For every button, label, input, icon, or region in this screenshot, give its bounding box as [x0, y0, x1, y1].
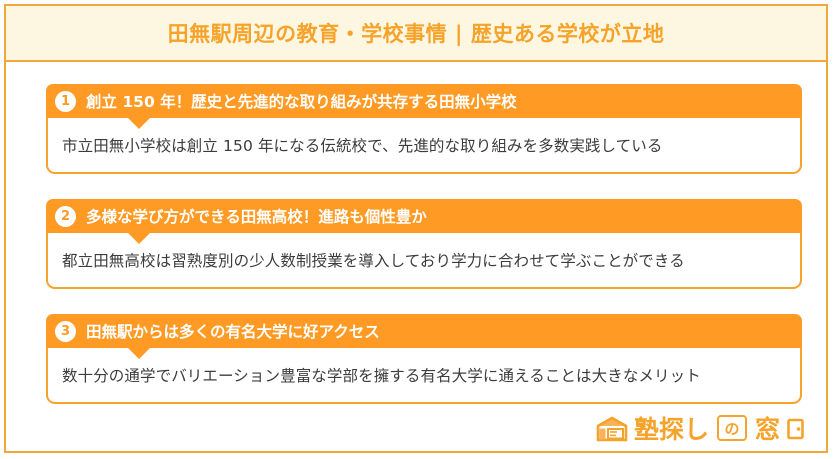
page-title: 田無駅周辺の教育・学校事情 | 歴史ある学校が立地: [168, 18, 665, 48]
item-body-text: 市立田無小学校は創立 150 年になる伝統校で、先進的な取り組みを多数実践してい…: [62, 134, 662, 156]
item-body-text: 都立田無高校は習熟度別の少人数制授業を導入しており学力に合わせて学ぶことができる: [62, 249, 685, 271]
brand-logo: 塾探し の 窓: [595, 415, 804, 443]
list-item: 1 創立 150 年！歴史と先進的な取り組みが共存する田無小学校 市立田無小学校…: [46, 84, 802, 174]
item-header: 3 田無駅からは多くの有名大学に好アクセス: [46, 314, 802, 348]
item-number-badge: 1: [55, 91, 76, 112]
item-number-badge: 3: [55, 321, 76, 342]
logo-text-after: 窓: [755, 417, 780, 442]
item-heading: 田無駅からは多くの有名大学に好アクセス: [86, 320, 380, 342]
logo-text-before: 塾探し: [634, 417, 709, 442]
item-body-text: 数十分の通学でバリエーション豊富な学部を擁する有名大学に通えることは大きなメリッ…: [62, 364, 701, 386]
item-body: 市立田無小学校は創立 150 年になる伝統校で、先進的な取り組みを多数実践してい…: [46, 118, 802, 174]
pointer-triangle-icon: [128, 233, 150, 244]
item-heading: 多様な学び方ができる田無高校！進路も個性豊か: [86, 205, 427, 227]
item-number-badge: 2: [55, 206, 76, 227]
pointer-triangle-icon: [128, 118, 150, 129]
logo-monitor-frame-icon: の: [717, 415, 747, 441]
list-item: 2 多様な学び方ができる田無高校！進路も個性豊か 都立田無高校は習熟度別の少人数…: [46, 199, 802, 289]
item-body: 都立田無高校は習熟度別の少人数制授業を導入しており学力に合わせて学ぶことができる: [46, 233, 802, 289]
school-building-icon: [595, 415, 629, 443]
item-heading: 創立 150 年！歴史と先進的な取り組みが共存する田無小学校: [86, 90, 517, 112]
title-band: 田無駅周辺の教育・学校事情 | 歴史ある学校が立地: [6, 6, 826, 62]
item-body: 数十分の通学でバリエーション豊富な学部を擁する有名大学に通えることは大きなメリッ…: [46, 348, 802, 404]
item-header: 2 多様な学び方ができる田無高校！進路も個性豊か: [46, 199, 802, 233]
window-icon: [787, 418, 804, 440]
item-header: 1 創立 150 年！歴史と先進的な取り組みが共存する田無小学校: [46, 84, 802, 118]
infographic-card: 田無駅周辺の教育・学校事情 | 歴史ある学校が立地 1 創立 150 年！歴史と…: [4, 4, 828, 453]
pointer-triangle-icon: [128, 348, 150, 359]
list-item: 3 田無駅からは多くの有名大学に好アクセス 数十分の通学でバリエーション豊富な学…: [46, 314, 802, 404]
items-list: 1 創立 150 年！歴史と先進的な取り組みが共存する田無小学校 市立田無小学校…: [6, 62, 826, 451]
